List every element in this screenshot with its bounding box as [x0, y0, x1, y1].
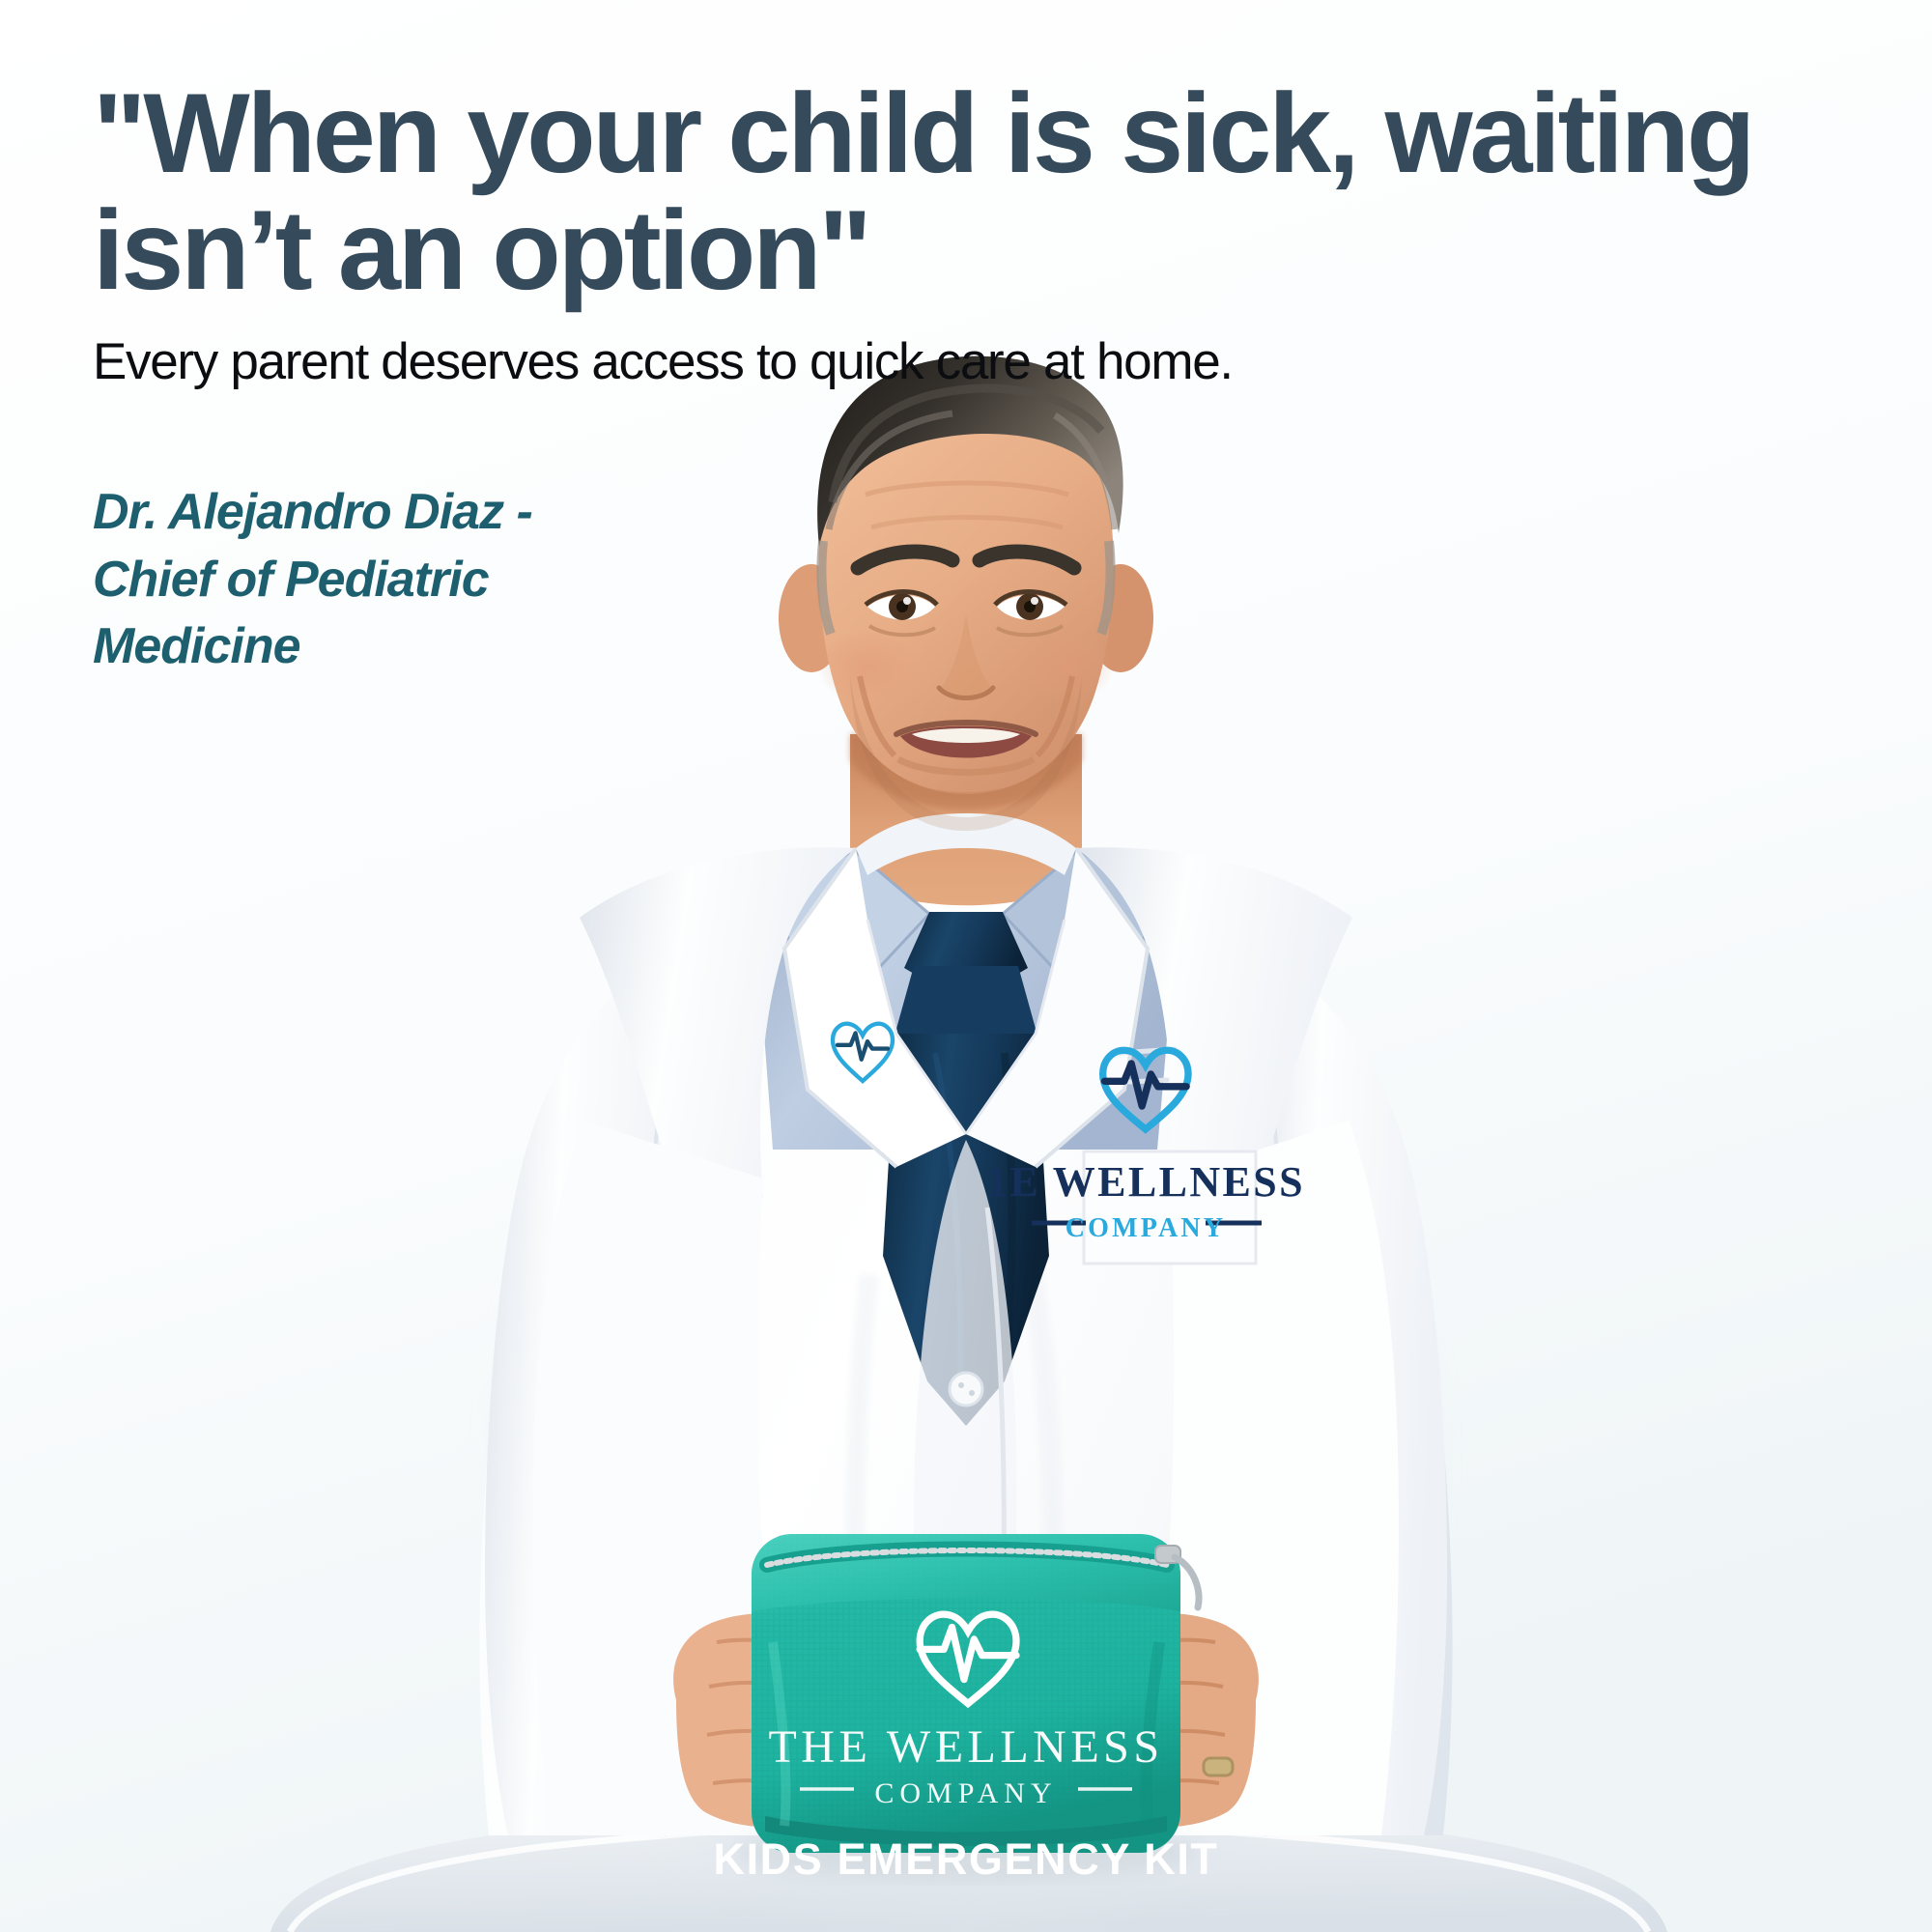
coat-brand-line1: 1E WELLNESS	[986, 1158, 1305, 1206]
page-title: "When your child is sick, waiting isn’t …	[93, 75, 1851, 308]
ad-creative: 1E WELLNESS COMPANY	[0, 0, 1932, 1932]
kit-brand-line2: COMPANY	[874, 1777, 1057, 1809]
kit-brand-line1: THE WELLNESS	[768, 1721, 1163, 1773]
attribution: Dr. Alejandro Diaz - Chief of Pediatric …	[93, 479, 711, 679]
kit-product-label: KIDS EMERGENCY KIT	[713, 1834, 1218, 1884]
wedding-ring	[1204, 1758, 1233, 1776]
copy-block: "When your child is sick, waiting isn’t …	[93, 75, 1851, 680]
coat-brand-line2: COMPANY	[1065, 1213, 1227, 1243]
subheadline: Every parent deserves access to quick ca…	[93, 333, 1851, 390]
emergency-kit: THE WELLNESS COMPANY KIDS EMERGENCY KIT	[713, 1534, 1218, 1884]
